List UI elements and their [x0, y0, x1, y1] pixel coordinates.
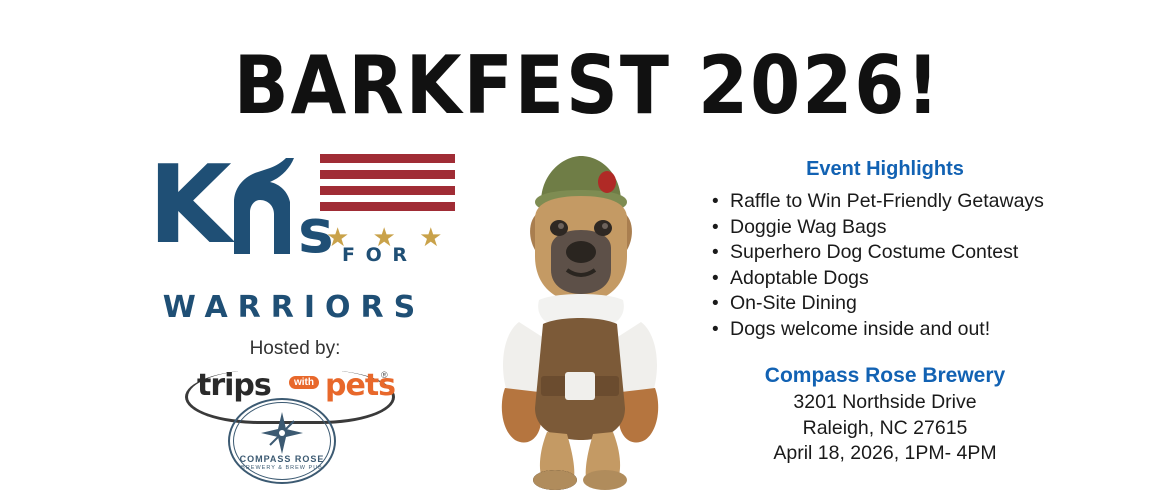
logo-warriors-text: WARRIORS — [134, 290, 454, 325]
logo-letter-s: s — [298, 202, 334, 262]
venue-street: 3201 Northside Drive — [700, 390, 1070, 416]
compass-brand-name: COMPASS ROSE — [228, 454, 336, 464]
highlights-heading: Event Highlights — [700, 158, 1160, 181]
list-item: On-Site Dining — [712, 291, 1160, 317]
dog-photo-illustration — [455, 140, 705, 490]
logo-for-text: F O R — [342, 245, 409, 266]
hosted-by-label: Hosted by: — [130, 338, 460, 360]
list-item: Adoptable Dogs — [712, 266, 1160, 292]
venue-block: Compass Rose Brewery 3201 Northside Driv… — [700, 362, 1160, 467]
list-item: Superhero Dog Costume Contest — [712, 240, 1160, 266]
dog-in-superhero-costume-photo — [455, 140, 705, 490]
list-item: Dogs welcome inside and out! — [712, 317, 1160, 343]
page-title: BARKFEST 2026! — [0, 38, 1175, 132]
sponsor-logos: ★ ★ ★ K s F O R WARRIORS Hosted by: trip… — [130, 150, 460, 480]
trips-with-badge: with — [289, 376, 319, 389]
venue-datetime: April 18, 2026, 1PM- 4PM — [700, 441, 1070, 467]
list-item: Doggie Wag Bags — [712, 215, 1160, 241]
k9s-for-warriors-logo: ★ ★ ★ K s F O R WARRIORS — [130, 150, 460, 315]
event-poster: BARKFEST 2026! ★ ★ ★ K s F O R WARRIORS … — [0, 0, 1175, 500]
event-details: Event Highlights Raffle to Win Pet-Frien… — [700, 158, 1160, 467]
list-item: Raffle to Win Pet-Friendly Getaways — [712, 189, 1160, 215]
trips-registered-mark: ® — [381, 370, 388, 380]
logo-letter-k: K — [148, 152, 226, 260]
compass-rose-icon — [261, 412, 303, 454]
highlights-list: Raffle to Win Pet-Friendly Getaways Dogg… — [700, 189, 1160, 342]
venue-name: Compass Rose Brewery — [700, 362, 1070, 390]
compass-rose-brewery-logo: COMPASS ROSE BREWERY & BREW PUB — [228, 398, 340, 488]
flag-stripes-icon — [320, 154, 460, 210]
compass-brand-sub: BREWERY & BREW PUB — [228, 465, 336, 471]
venue-city: Raleigh, NC 27615 — [700, 416, 1070, 442]
